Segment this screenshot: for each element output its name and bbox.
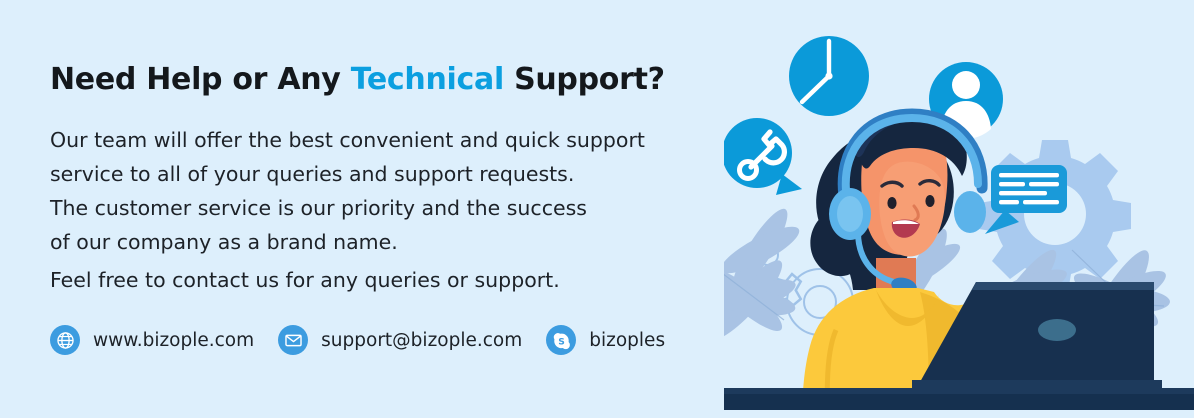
desk xyxy=(724,388,1194,418)
page-title: Need Help or Any Technical Support? xyxy=(50,62,665,97)
description-line-3: The customer service is our priority and… xyxy=(50,191,750,225)
contact-item-email[interactable]: support@bizople.com xyxy=(278,322,522,358)
support-illustration xyxy=(724,0,1194,418)
envelope-icon xyxy=(278,325,308,355)
headline-part-2: Support? xyxy=(504,62,665,97)
description-paragraph: Our team will offer the best convenient … xyxy=(50,123,750,259)
text-content: Need Help or Any Technical Support? Our … xyxy=(50,0,740,418)
support-banner: Need Help or Any Technical Support? Our … xyxy=(0,0,1194,418)
svg-text:S: S xyxy=(558,337,565,347)
globe-icon xyxy=(50,325,80,355)
clock-icon xyxy=(789,36,869,116)
contact-item-website[interactable]: www.bizople.com xyxy=(50,322,254,358)
contact-row: www.bizople.com support@bizople.com S xyxy=(50,322,689,358)
description-line-1: Our team will offer the best convenient … xyxy=(50,123,750,157)
description-line-4: of our company as a brand name. xyxy=(50,225,750,259)
call-to-action-text: Feel free to contact us for any queries … xyxy=(50,264,560,296)
headline-accent-word: Technical xyxy=(351,62,504,97)
headline-part-1: Need Help or Any xyxy=(50,62,351,97)
description-line-2: service to all of your queries and suppo… xyxy=(50,157,750,191)
contact-label-skype: bizoples xyxy=(589,330,665,351)
skype-icon: S xyxy=(546,325,576,355)
contact-item-skype[interactable]: S bizoples xyxy=(546,322,665,358)
contact-label-email: support@bizople.com xyxy=(321,330,522,351)
contact-label-website: www.bizople.com xyxy=(93,330,254,351)
